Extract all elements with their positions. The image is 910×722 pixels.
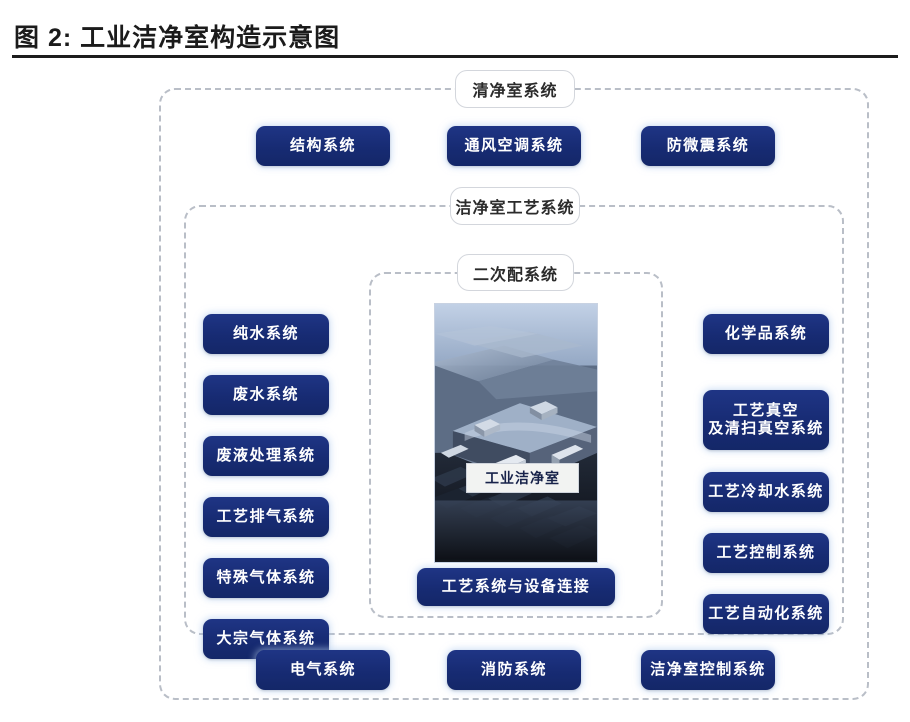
node-process-control-system[interactable]: 工艺控制系统 bbox=[703, 533, 829, 573]
node-waste-water-system[interactable]: 废水系统 bbox=[203, 375, 329, 415]
node-process-exhaust-system[interactable]: 工艺排气系统 bbox=[203, 497, 329, 537]
label-cleanroom-system: 清净室系统 bbox=[455, 70, 575, 108]
label-secondary-system: 二次配系统 bbox=[457, 254, 574, 291]
label-process-system: 洁净室工艺系统 bbox=[450, 187, 580, 225]
cleanroom-structure-diagram: 清净室系统 洁净室工艺系统 二次配系统 结构系统 通风空调系统 防微震系统 纯水… bbox=[0, 60, 910, 722]
cleanroom-facility-photo bbox=[434, 303, 598, 563]
node-process-automation-system[interactable]: 工艺自动化系统 bbox=[703, 594, 829, 634]
title-divider bbox=[12, 55, 898, 58]
node-electrical-system[interactable]: 电气系统 bbox=[256, 650, 390, 690]
node-process-equipment-connection[interactable]: 工艺系统与设备连接 bbox=[417, 568, 615, 606]
node-structure-system[interactable]: 结构系统 bbox=[256, 126, 390, 166]
node-waste-liquid-treatment-system[interactable]: 废液处理系统 bbox=[203, 436, 329, 476]
node-anti-microvibration-system[interactable]: 防微震系统 bbox=[641, 126, 775, 166]
node-special-gas-system[interactable]: 特殊气体系统 bbox=[203, 558, 329, 598]
photo-caption-industrial-cleanroom: 工业洁净室 bbox=[466, 463, 579, 493]
node-process-cooling-water-system[interactable]: 工艺冷却水系统 bbox=[703, 472, 829, 512]
node-fire-protection-system[interactable]: 消防系统 bbox=[447, 650, 581, 690]
node-pure-water-system[interactable]: 纯水系统 bbox=[203, 314, 329, 354]
node-cleanroom-control-system[interactable]: 洁净室控制系统 bbox=[641, 650, 775, 690]
node-process-vacuum-system[interactable]: 工艺真空 及清扫真空系统 bbox=[703, 390, 829, 450]
node-hvac-system[interactable]: 通风空调系统 bbox=[447, 126, 581, 166]
node-chemical-system[interactable]: 化学品系统 bbox=[703, 314, 829, 354]
page-title: 图 2: 工业洁净室构造示意图 bbox=[14, 18, 340, 54]
